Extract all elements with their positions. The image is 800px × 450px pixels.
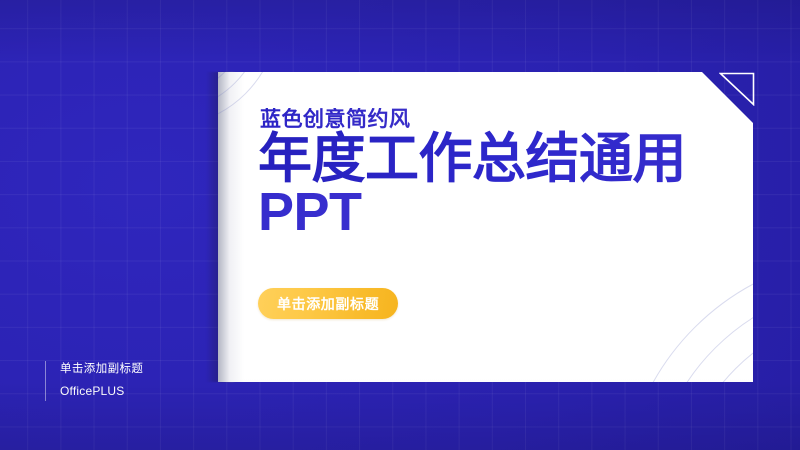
slide-eyebrow[interactable]: 蓝色创意简约风 — [260, 108, 728, 131]
footer-subtitle[interactable]: 单击添加副标题 — [60, 363, 143, 376]
subtitle-pill-button[interactable]: 单击添加副标题 — [258, 288, 398, 319]
card-edge-shading — [218, 72, 244, 382]
footer-brand[interactable]: OfficePLUS — [60, 385, 143, 398]
footer-accent-line — [45, 361, 46, 401]
footer-block: 单击添加副标题 OfficePLUS — [45, 361, 143, 401]
corner-triangle-icon — [719, 72, 755, 106]
title-block: 蓝色创意简约风 年度工作总结通用PPT — [258, 108, 728, 239]
slide-title[interactable]: 年度工作总结通用PPT — [258, 133, 708, 239]
slide-title-text: 年度工作总结通用PPT — [258, 129, 686, 242]
footer-text-group: 单击添加副标题 OfficePLUS — [60, 361, 143, 398]
presentation-slide: 蓝色创意简约风 年度工作总结通用PPT 单击添加副标题 单击添加副标题 Offi… — [0, 0, 800, 450]
